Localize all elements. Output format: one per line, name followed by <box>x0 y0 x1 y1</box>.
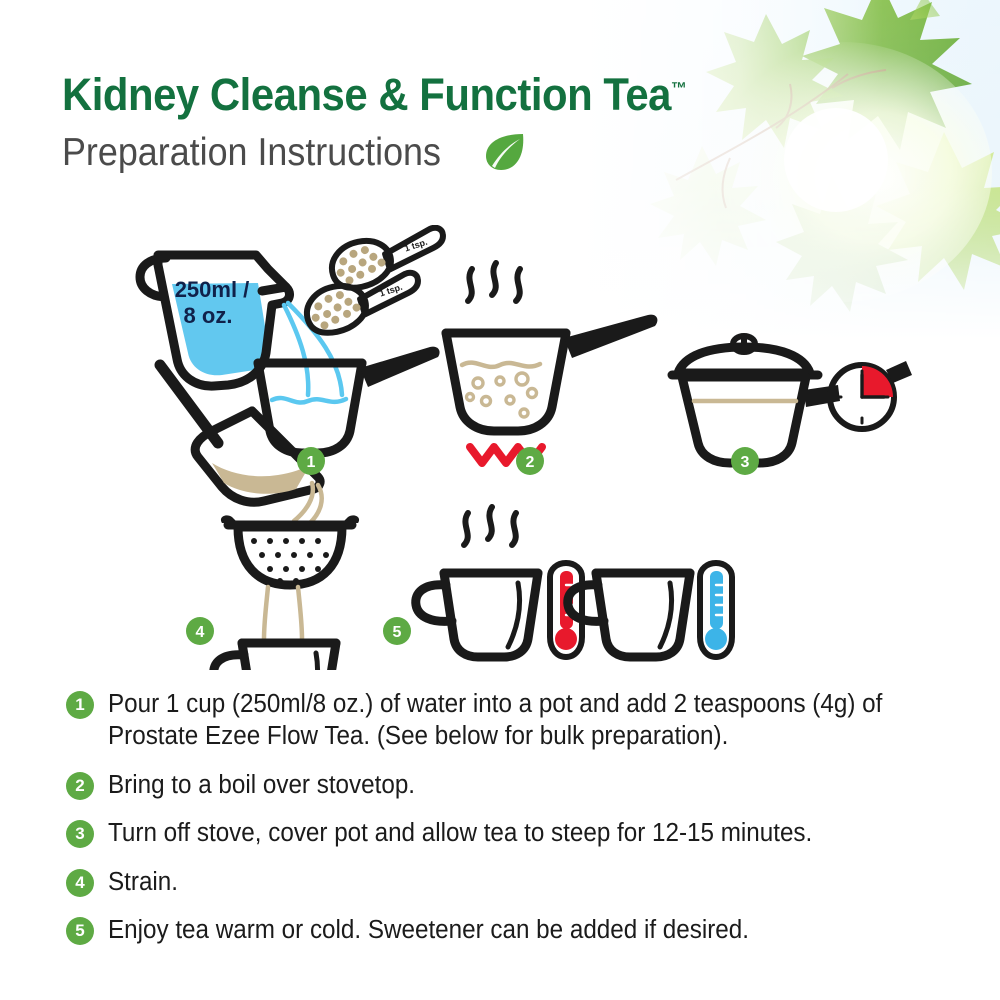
page-header: Kidney Cleanse & Function Tea™ Preparati… <box>62 72 734 173</box>
diagram-step-marker-3: 3 <box>731 447 759 475</box>
bubbles <box>467 373 537 417</box>
page-title: Kidney Cleanse & Function Tea™ <box>62 72 687 117</box>
preparation-diagram: .ink { fill:none; stroke:#1a1a1a; stroke… <box>0 225 1000 670</box>
diagram-step-marker-2: 2 <box>516 447 544 475</box>
measuring-cup-label-line2: 8 oz. <box>184 303 233 328</box>
step-text: Bring to a boil over stovetop. <box>108 769 904 801</box>
steam-icon-hot-cup <box>464 507 516 545</box>
step-text: Turn off stove, cover pot and allow tea … <box>108 817 904 849</box>
step-badge: 3 <box>66 820 94 848</box>
diagram-step-marker-5: 5 <box>383 617 411 645</box>
step-badge: 2 <box>66 772 94 800</box>
step-badge: 1 <box>66 691 94 719</box>
scene-boil-pot <box>446 263 657 463</box>
page-subtitle: Preparation Instructions <box>62 133 441 172</box>
thermometer-cold-icon <box>700 563 732 657</box>
list-item: 2 Bring to a boil over stovetop. <box>66 769 946 801</box>
subtitle-row: Preparation Instructions <box>62 131 734 173</box>
diagram-step-marker-1-label: 1 <box>307 454 316 471</box>
step-text: Enjoy tea warm or cold. Sweetener can be… <box>108 914 904 946</box>
step-text: Pour 1 cup (250ml/8 oz.) of water into a… <box>108 688 904 753</box>
step-text: Strain. <box>108 866 904 898</box>
leaf-icon <box>482 131 528 173</box>
list-item: 1 Pour 1 cup (250ml/8 oz.) of water into… <box>66 688 946 753</box>
scene-enjoy-cups <box>416 507 732 657</box>
instruction-steps-list: 1 Pour 1 cup (250ml/8 oz.) of water into… <box>66 688 946 962</box>
step-badge: 4 <box>66 869 94 897</box>
steam-icon-boil <box>468 263 520 301</box>
list-item: 3 Turn off stove, cover pot and allow te… <box>66 817 946 849</box>
diagram-step-marker-4: 4 <box>186 617 214 645</box>
diagram-step-marker-4-label: 4 <box>196 624 205 641</box>
diagram-step-marker-5-label: 5 <box>393 624 402 641</box>
scene-covered-pot-timer <box>672 336 912 463</box>
list-item: 5 Enjoy tea warm or cold. Sweetener can … <box>66 914 946 946</box>
diagram-step-marker-2-label: 2 <box>526 454 535 471</box>
page-title-text: Kidney Cleanse & Function Tea <box>62 69 671 120</box>
scene-pour-water: 250ml / 8 oz. 1 tsp. <box>140 225 449 453</box>
diagram-step-marker-3-label: 3 <box>741 454 750 471</box>
trademark-symbol: ™ <box>671 79 687 98</box>
list-item: 4 Strain. <box>66 866 946 898</box>
step-badge: 5 <box>66 917 94 945</box>
measuring-cup-label-line1: 250ml / <box>175 277 250 302</box>
timer-icon <box>830 361 912 429</box>
pot-with-water-icon <box>258 347 440 453</box>
diagram-step-marker-1: 1 <box>297 447 325 475</box>
